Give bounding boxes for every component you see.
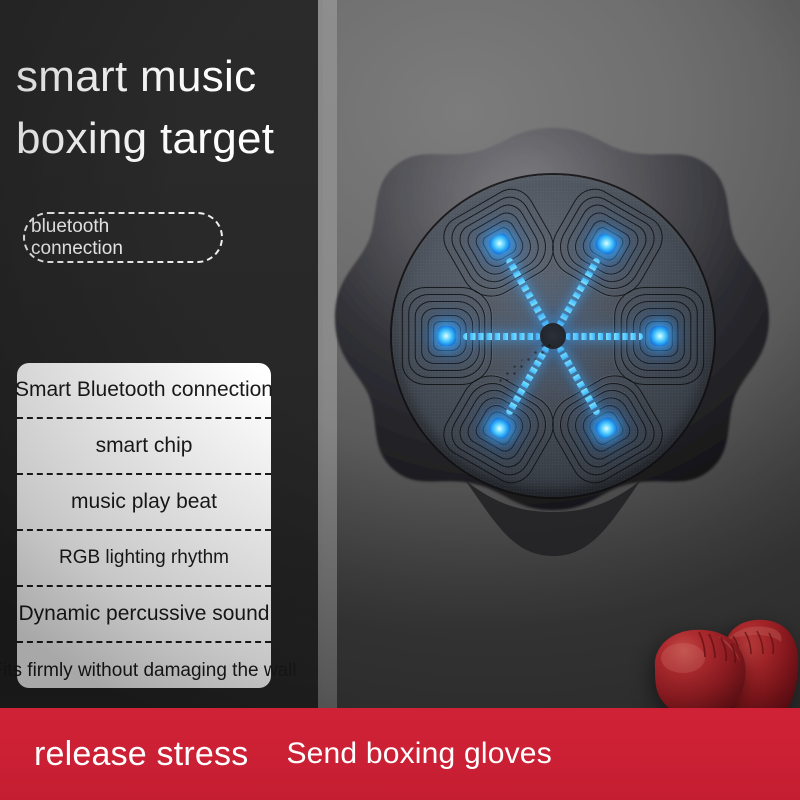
bluetooth-badge: bluetooth connection — [23, 212, 223, 263]
center-hub — [540, 323, 566, 349]
feature-label: RGB lighting rhythm — [59, 547, 229, 569]
poster-canvas: smart music boxing target bluetooth conn… — [0, 0, 800, 800]
feature-label: Smart Bluetooth connection — [15, 378, 273, 402]
pad-led — [650, 326, 668, 346]
banner-secondary-text: Send boxing gloves — [286, 737, 551, 771]
device-face — [392, 175, 714, 497]
led-spoke — [463, 333, 541, 340]
headline-line-2: boxing target — [16, 108, 346, 170]
pad-led — [438, 326, 456, 346]
list-item: smart chip — [17, 417, 271, 473]
led-spoke — [565, 333, 643, 340]
page-title: smart music boxing target — [16, 46, 346, 170]
bluetooth-badge-text: bluetooth connection — [25, 216, 221, 260]
feature-label: Fits firmly without damaging the wall — [0, 660, 297, 682]
boxing-target-device — [333, 112, 773, 582]
bluetooth-badge-line-1: bluetooth — [31, 216, 221, 238]
bottom-banner: release stress Send boxing gloves — [0, 708, 800, 800]
headline-line-1: smart music — [16, 52, 256, 101]
banner-primary-text: release stress — [34, 735, 248, 774]
feature-label: music play beat — [71, 490, 217, 514]
list-item: Dynamic percussive sound — [17, 585, 271, 641]
bluetooth-badge-line-2: connection — [31, 238, 221, 260]
list-item: Smart Bluetooth connection — [17, 363, 271, 417]
list-item: Fits firmly without damaging the wall — [17, 641, 271, 697]
list-item: RGB lighting rhythm — [17, 529, 271, 585]
feature-label: Dynamic percussive sound — [19, 602, 270, 626]
feature-label: smart chip — [96, 434, 193, 458]
list-item: music play beat — [17, 473, 271, 529]
feature-list: Smart Bluetooth connection smart chip mu… — [17, 363, 271, 688]
